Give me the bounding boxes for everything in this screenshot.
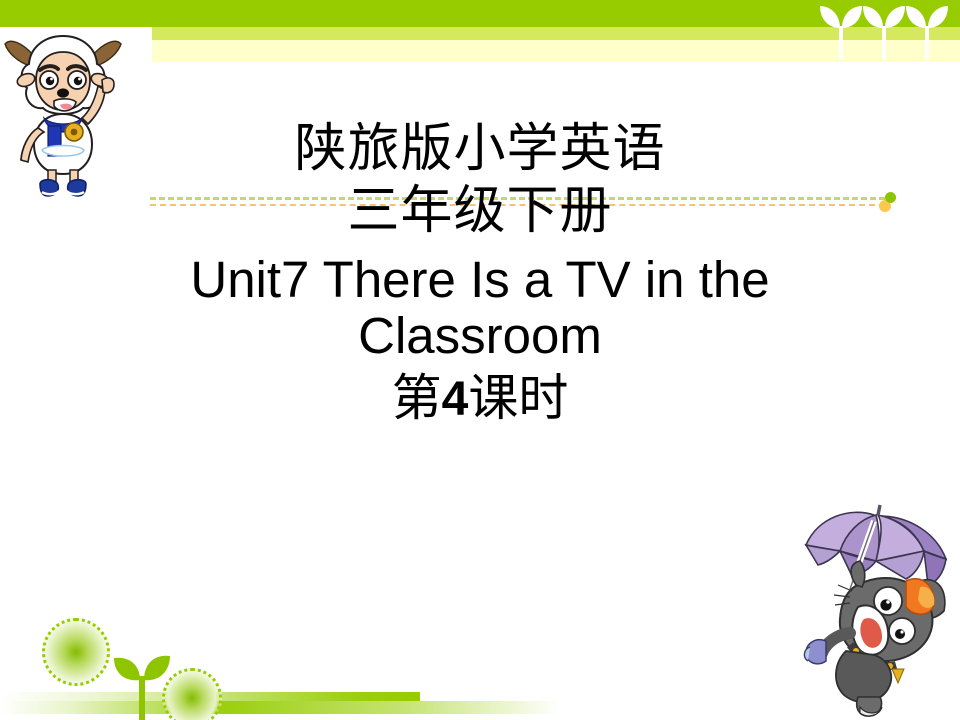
lesson-line: 第4课时 — [0, 368, 960, 430]
footer-sprout-icon — [108, 648, 180, 720]
unit-title-line: Unit7 There Is a TV in the Classroom — [0, 252, 960, 364]
grade-line: 三年级下册 — [0, 180, 960, 242]
footer-band-lower — [0, 701, 560, 714]
sprout-icon — [906, 6, 948, 60]
title-block: 陕旅版小学英语 三年级下册 Unit7 There Is a TV in the… — [0, 118, 960, 430]
presentation-slide: 陕旅版小学英语 三年级下册 Unit7 There Is a TV in the… — [0, 0, 960, 720]
publisher-line: 陕旅版小学英语 — [0, 118, 960, 180]
lesson-prefix: 第 — [392, 369, 442, 427]
header-green-band — [0, 0, 960, 27]
lesson-number: 4 — [442, 373, 469, 426]
lesson-suffix: 课时 — [468, 369, 568, 427]
sprout-icon — [863, 6, 905, 60]
header-sprout-group — [818, 2, 948, 60]
sprout-icon — [820, 6, 862, 60]
dotted-circle-decoration — [42, 618, 110, 686]
